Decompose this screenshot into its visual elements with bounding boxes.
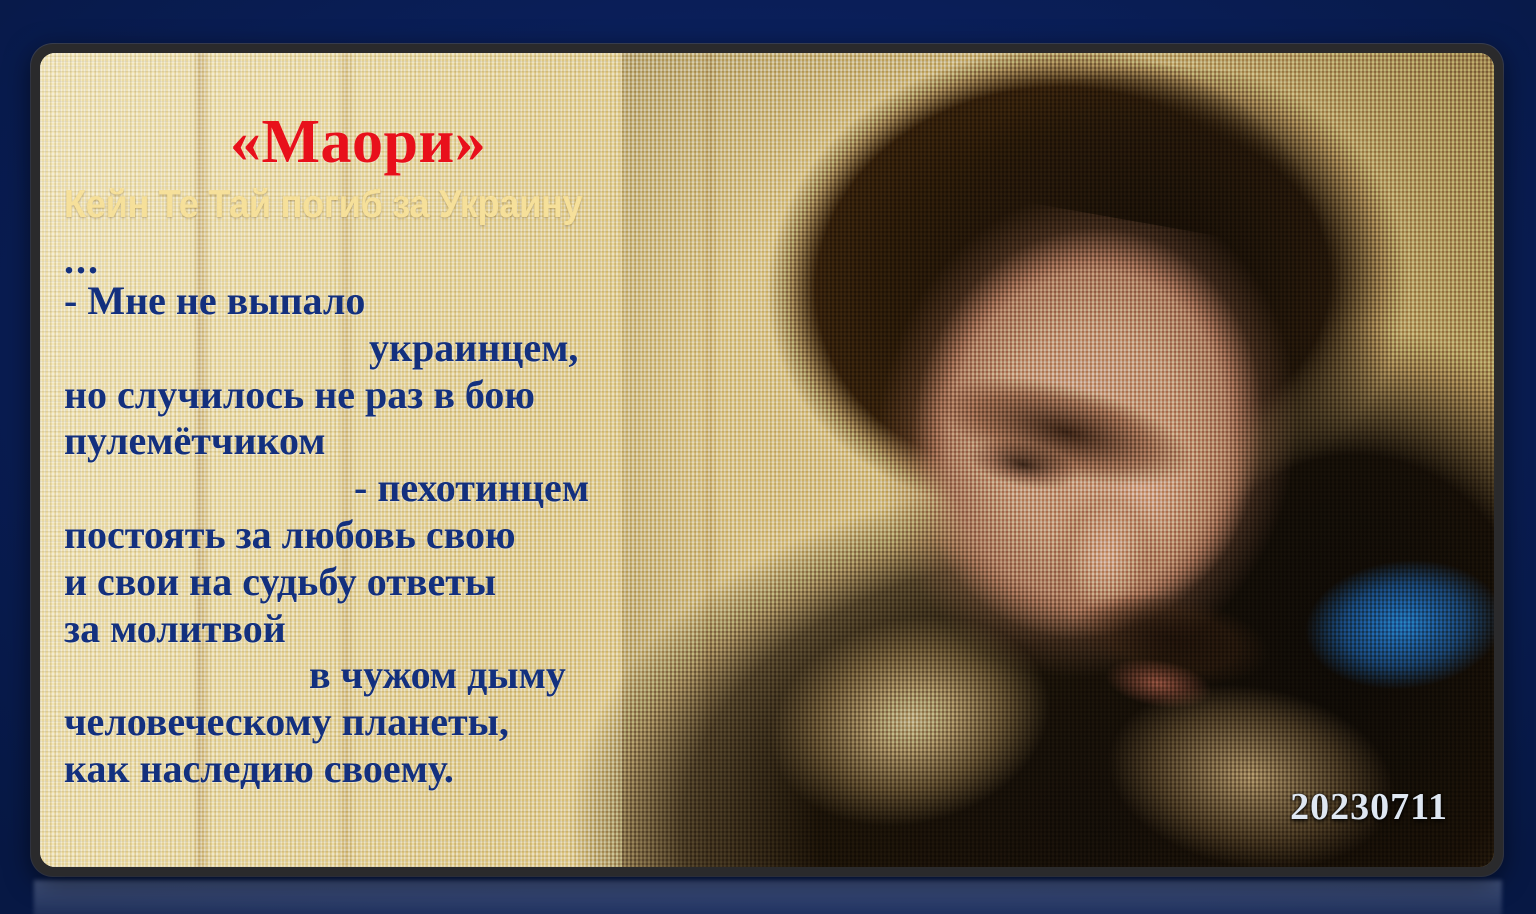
poem-line: ...	[64, 242, 764, 278]
picture-frame: «Маори» Кейн Те Тай погиб за Украину ...…	[31, 44, 1503, 876]
frame-reflection	[34, 880, 1502, 914]
poem-line: пулемётчиком	[64, 418, 764, 465]
poem-line: в чужом дыму	[64, 652, 764, 699]
poem-line: постоять за любовь свою	[64, 512, 764, 559]
framed-photo: «Маори» Кейн Те Тай погиб за Украину ...…	[40, 53, 1494, 867]
memorial-title: «Маори»	[64, 111, 764, 173]
poem-line: - Мне не выпало	[64, 278, 764, 325]
poem-line: за молитвой	[64, 606, 764, 653]
date-stamp: 20230711	[1290, 785, 1448, 829]
poem-line: - пехотинцем	[64, 465, 764, 512]
memorial-poem: ...- Мне не выпалоукраинцем,но случилось…	[64, 242, 764, 793]
memorial-subtitle: Кейн Те Тай погиб за Украину	[64, 185, 715, 226]
poem-line: украинцем,	[64, 325, 764, 372]
poem-line: человеческому планеты,	[64, 699, 764, 746]
memorial-text-block: «Маори» Кейн Те Тай погиб за Украину ...…	[64, 111, 764, 793]
slide-canvas: «Маори» Кейн Те Тай погиб за Украину ...…	[0, 0, 1536, 914]
poem-line: и свои на судьбу ответы	[64, 559, 764, 606]
poem-line: но случилось не раз в бою	[64, 372, 764, 419]
poem-line: как наследию своему.	[64, 746, 764, 793]
